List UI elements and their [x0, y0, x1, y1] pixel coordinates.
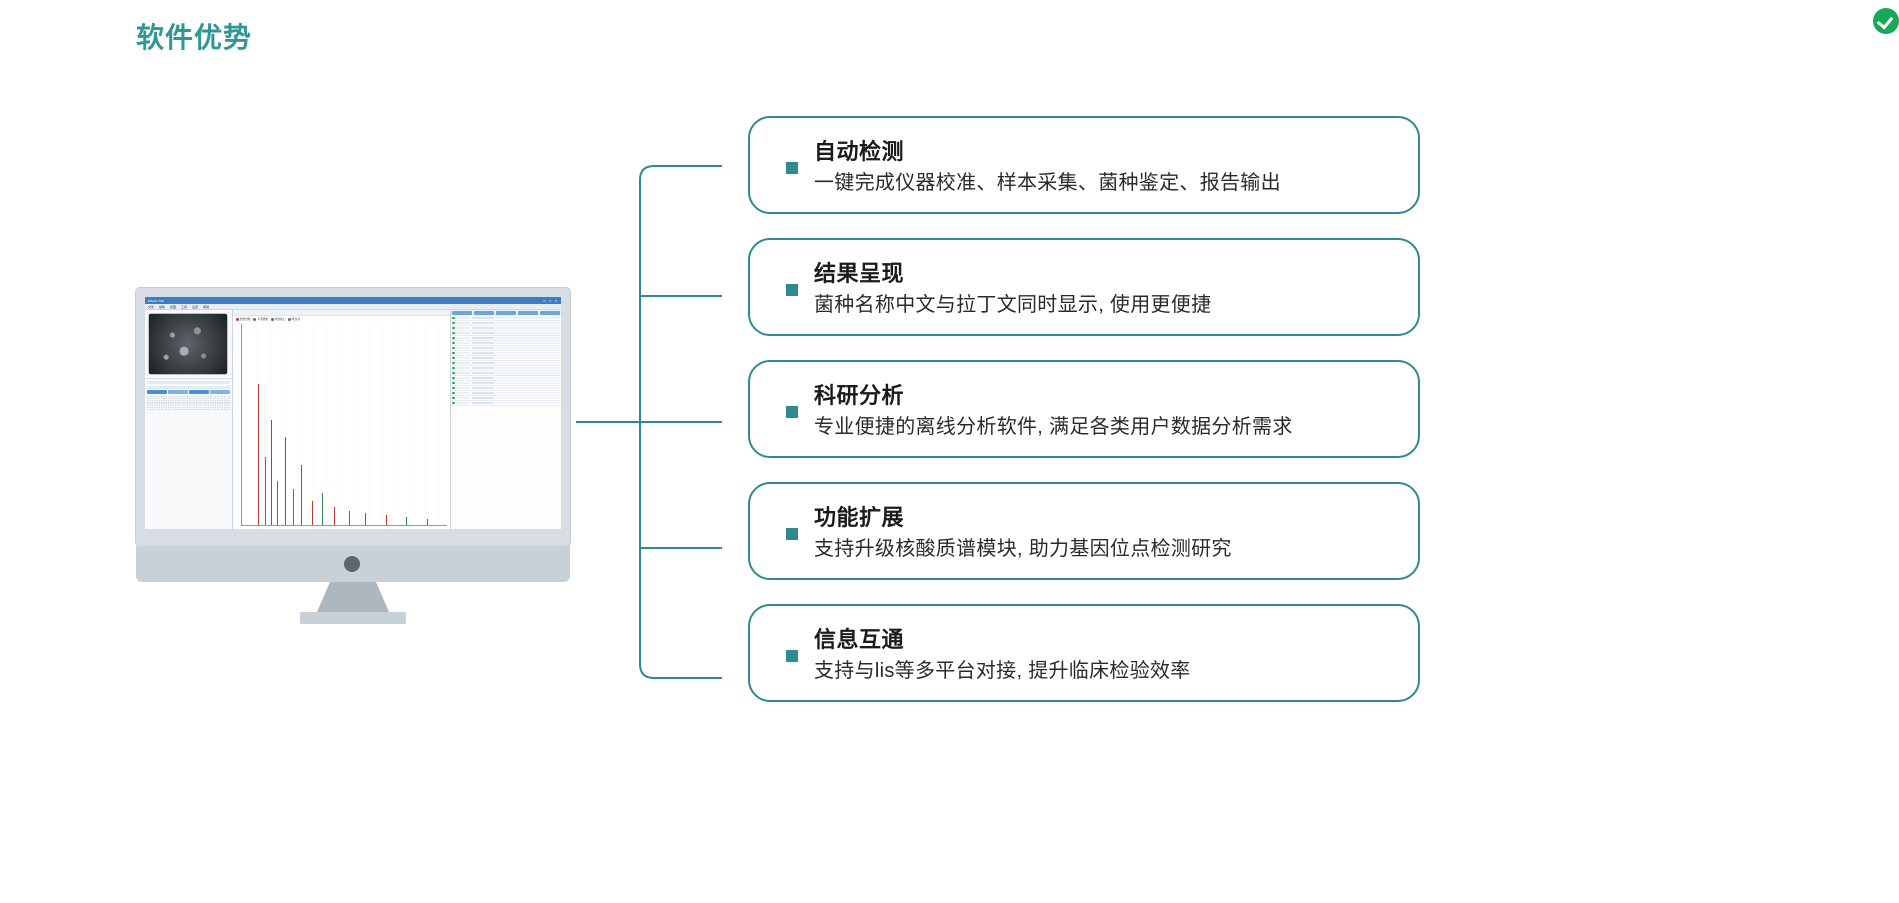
- field-row: [147, 386, 230, 389]
- card-description: 菌种名称中文与拉丁文同时显示, 使用更便捷: [814, 292, 1390, 319]
- status-dot: [452, 352, 455, 355]
- mass-spectrum-plot: [241, 324, 447, 526]
- bullet-square-icon: [786, 528, 798, 540]
- app-body: 原始谱图 平滑谱图 基线校正 峰识别: [145, 310, 561, 529]
- status-dot: [452, 377, 455, 380]
- software-screenshot: MALDI-TOF ▭ ▭ ✕ 文件 编辑 视图 工具 设置 帮助: [145, 297, 561, 529]
- toolbar-button[interactable]: [168, 390, 188, 394]
- well-cell[interactable]: [168, 407, 174, 410]
- toolbar-button[interactable]: [540, 311, 560, 315]
- well-cell[interactable]: [224, 407, 230, 410]
- menu-item-3[interactable]: 工具: [181, 305, 187, 309]
- toolbar-button[interactable]: [518, 311, 538, 315]
- card-title: 结果呈现: [814, 260, 1390, 288]
- feature-card-auto-detection[interactable]: 自动检测 一键完成仪器校准、样本采集、菌种鉴定、报告输出: [748, 116, 1420, 214]
- sample-button-bar[interactable]: [147, 390, 230, 394]
- bullet-square-icon: [786, 284, 798, 296]
- card-description: 专业便捷的离线分析软件, 满足各类用户数据分析需求: [814, 414, 1390, 441]
- well-cell[interactable]: [217, 407, 223, 410]
- status-dot: [452, 387, 455, 390]
- feature-card-research-analysis[interactable]: 科研分析 专业便捷的离线分析软件, 满足各类用户数据分析需求: [748, 360, 1420, 458]
- legend-entry: 基线校正: [271, 317, 285, 321]
- well-cell[interactable]: [154, 407, 160, 410]
- results-table-panel: [451, 310, 561, 529]
- card-description: 支持升级核酸质谱模块, 助力基因位点检测研究: [814, 536, 1390, 563]
- feature-card-list: 自动检测 一键完成仪器校准、样本采集、菌种鉴定、报告输出 结果呈现 菌种名称中文…: [748, 116, 1420, 726]
- feature-card-function-expansion[interactable]: 功能扩展 支持升级核酸质谱模块, 助力基因位点检测研究: [748, 482, 1420, 580]
- bullet-square-icon: [786, 650, 798, 662]
- connector-tree: [576, 110, 736, 730]
- legend-entry: 峰识别: [288, 317, 300, 321]
- sample-image-panel: [145, 310, 233, 529]
- legend-label: 原始谱图: [240, 317, 250, 321]
- status-dot: [452, 397, 455, 400]
- status-dot: [452, 327, 455, 330]
- legend-label: 基线校正: [275, 317, 285, 321]
- legend-label: 峰识别: [292, 317, 300, 321]
- status-dot: [452, 342, 455, 345]
- menu-item-2[interactable]: 视图: [170, 305, 176, 309]
- menu-item-1[interactable]: 编辑: [159, 305, 165, 309]
- table-row[interactable]: [451, 401, 561, 406]
- bullet-square-icon: [786, 406, 798, 418]
- monitor-power-button[interactable]: [344, 556, 360, 572]
- card-title: 信息互通: [814, 626, 1390, 654]
- status-dot: [452, 337, 455, 340]
- status-dot: [452, 347, 455, 350]
- menu-item-5[interactable]: 帮助: [203, 305, 209, 309]
- well-cell[interactable]: [189, 407, 195, 410]
- toolbar-button[interactable]: [147, 390, 167, 394]
- sample-controls-panel: [145, 378, 232, 529]
- window-controls[interactable]: ▭ ▭ ✕: [543, 299, 558, 303]
- legend-label: 平滑谱图: [257, 317, 267, 321]
- status-dot: [452, 322, 455, 325]
- card-title: 功能扩展: [814, 504, 1390, 532]
- results-table[interactable]: [451, 316, 561, 529]
- monitor-bezel: MALDI-TOF ▭ ▭ ✕ 文件 编辑 视图 工具 设置 帮助: [136, 288, 570, 546]
- well-cell[interactable]: [182, 407, 188, 410]
- status-dot: [452, 367, 455, 370]
- toolbar-button[interactable]: [210, 390, 230, 394]
- bullet-square-icon: [786, 162, 798, 174]
- well-cell[interactable]: [161, 407, 167, 410]
- status-dot: [452, 402, 455, 405]
- well-cell[interactable]: [196, 407, 202, 410]
- petri-dish-image-wrap: [145, 310, 232, 378]
- status-dot: [452, 332, 455, 335]
- monitor-stand-base: [300, 612, 406, 624]
- legend-entry: 原始谱图: [236, 317, 250, 321]
- desktop-monitor-illustration: MALDI-TOF ▭ ▭ ✕ 文件 编辑 视图 工具 设置 帮助: [136, 288, 570, 594]
- status-dot: [452, 382, 455, 385]
- status-dot: [452, 392, 455, 395]
- status-dot: [452, 317, 455, 320]
- monitor-stand-neck: [317, 582, 389, 612]
- status-dot: [452, 357, 455, 360]
- page-root: 软件优势 MALDI-TOF ▭ ▭ ✕ 文件 编辑 视图 工具 设置: [0, 0, 1899, 903]
- feature-card-information-interconnection[interactable]: 信息互通 支持与lis等多平台对接, 提升临床检验效率: [748, 604, 1420, 702]
- page-title: 软件优势: [136, 16, 252, 56]
- petri-dish-image: [148, 313, 228, 375]
- card-description: 支持与lis等多平台对接, 提升临床检验效率: [814, 658, 1390, 685]
- card-title: 自动检测: [814, 138, 1390, 166]
- app-titlebar: MALDI-TOF ▭ ▭ ✕: [145, 297, 561, 304]
- field-row: [147, 381, 230, 384]
- card-description: 一键完成仪器校准、样本采集、菌种鉴定、报告输出: [814, 170, 1390, 197]
- app-titlebar-text: MALDI-TOF: [148, 299, 164, 303]
- well-cell[interactable]: [210, 407, 216, 410]
- well-cell[interactable]: [175, 407, 181, 410]
- status-dot: [452, 362, 455, 365]
- menu-item-4[interactable]: 设置: [192, 305, 198, 309]
- check-circle-icon[interactable]: [1873, 8, 1899, 34]
- feature-card-result-presentation[interactable]: 结果呈现 菌种名称中文与拉丁文同时显示, 使用更便捷: [748, 238, 1420, 336]
- spectrum-panel: 原始谱图 平滑谱图 基线校正 峰识别: [233, 310, 451, 529]
- menu-item-0[interactable]: 文件: [148, 305, 154, 309]
- card-title: 科研分析: [814, 382, 1390, 410]
- toolbar-button[interactable]: [474, 311, 494, 315]
- toolbar-button[interactable]: [452, 311, 472, 315]
- well-cell[interactable]: [203, 407, 209, 410]
- well-plate-grid[interactable]: [147, 396, 230, 410]
- status-dot: [452, 372, 455, 375]
- toolbar-button[interactable]: [189, 390, 209, 394]
- spectrum-legend: 原始谱图 平滑谱图 基线校正 峰识别: [233, 316, 450, 322]
- well-cell[interactable]: [147, 407, 153, 410]
- toolbar-button[interactable]: [496, 311, 516, 315]
- monitor-screen: MALDI-TOF ▭ ▭ ✕ 文件 编辑 视图 工具 设置 帮助: [145, 297, 561, 529]
- legend-entry: 平滑谱图: [253, 317, 267, 321]
